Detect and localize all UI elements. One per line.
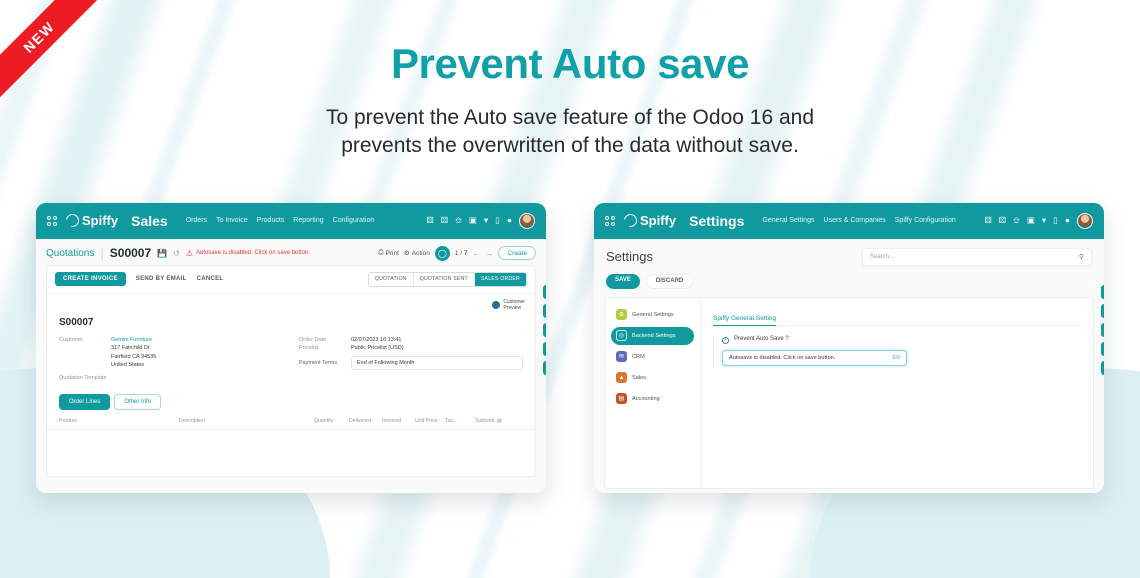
payment-terms-row: Payment Terms End of Following Month [299,356,523,370]
sales-window: Spiffy Sales Orders To Invoice Products … [36,203,546,493]
pager-next-icon[interactable]: → [485,249,493,258]
form-right-column: Order Date 02/07/2023 16:13:41 Pricelist… [299,337,523,384]
sales-navbar: Spiffy Sales Orders To Invoice Products … [36,203,546,239]
page-title: Prevent Auto save [0,40,1140,88]
avatar[interactable] [1077,213,1093,229]
col-delivered: Delivered [349,418,382,424]
settings-menu-bar: General Settings Users & Companies Spiff… [762,217,955,224]
brand-name: Spiffy [640,213,676,228]
customer-preview-button[interactable]: Customer Preview [492,299,525,311]
sidebar-item-accounting[interactable]: ▤ Accounting [611,390,694,408]
subtitle-line-2: prevents the overwritten of the data wit… [0,132,1140,160]
apps-menu-icon[interactable] [47,216,57,226]
apps-menu-icon[interactable] [605,216,615,226]
messages-icon[interactable]: ⚄ [984,216,991,225]
menu-configuration[interactable]: Configuration [333,217,375,224]
order-lines-table-header: Product Description Quantity Delivered I… [47,410,535,430]
menu-general-settings[interactable]: General Settings [762,217,814,224]
autosave-message-input[interactable]: Autosave is disabled. Click on save butt… [722,350,907,366]
location-icon[interactable]: ● [1065,216,1070,225]
order-date-row: Order Date 02/07/2023 16:13:41 [299,337,523,343]
search-input[interactable]: Search... ⚲ [862,248,1092,266]
breadcrumb[interactable]: Quotations [46,248,94,259]
sales-side-toolbar: ☆ ⚲ ╱ ⚲ ▢ [543,285,546,375]
sales-menu-bar: Orders To Invoice Products Reporting Con… [186,217,375,224]
globe-icon [492,301,500,309]
sidebar-item-label: Accounting [632,396,660,402]
col-tax: Tax... [445,418,475,424]
sidebar-item-label: Sales [632,375,646,381]
autosave-warning: ⚠ Autosave is disabled. Click on save bu… [186,249,310,258]
search-icon[interactable]: ⚲ [543,304,546,318]
address-line-1: 317 Fairchild Dr [59,345,283,351]
sidebar-item-general-settings[interactable]: ⚙ General Settings [611,306,694,324]
address-line-3: United States [59,362,283,368]
address-line-2: Fairfield CA 94535 [59,354,283,360]
action-button[interactable]: ⚙Action [404,249,430,257]
brand-logo[interactable]: Spiffy [66,213,118,228]
cancel-button[interactable]: CANCEL [197,276,224,282]
print-icon[interactable]: ⎒ [455,216,462,225]
discard-undo-icon[interactable]: ↺ [173,249,180,258]
status-pipeline: QUOTATION QUOTATION SENT SALES ORDER [368,272,527,287]
activities-icon[interactable]: ⚄ [999,216,1006,225]
sidebar-item-label: Backend Settings [632,333,676,339]
edit-pencil-icon[interactable]: ╱ [543,323,546,337]
autosave-message-value: Autosave is disabled. Click on save butt… [729,355,835,361]
spiffy-swirl-icon [63,212,81,230]
brand-logo[interactable]: Spiffy [624,213,676,228]
print-label: Print [386,250,399,257]
create-invoice-button[interactable]: CREATE INVOICE [55,272,126,286]
gallery-icon[interactable]: ▣ [469,216,477,225]
sidebar-item-crm[interactable]: ✉ CRM [611,348,694,366]
menu-to-invoice[interactable]: To Invoice [216,217,248,224]
stage-sales-order[interactable]: SALES ORDER [475,273,526,286]
new-ribbon: NEW [0,0,120,120]
bookmark-icon[interactable]: ▢ [1101,361,1104,375]
sales-icon: ▲ [616,372,627,383]
sidebar-item-backend-settings[interactable]: ◎ Backend Settings [611,327,694,345]
hero-section: Prevent Auto save To prevent the Auto sa… [0,0,1140,161]
col-unit-price: Unit Price [415,418,445,424]
prevent-auto-save-label: Prevent Auto Save ? [734,336,789,342]
payment-terms-input[interactable]: End of Following Month [351,356,523,370]
quotation-sheet: CREATE INVOICE SEND BY EMAIL CANCEL QUOT… [46,265,536,477]
menu-reporting[interactable]: Reporting [293,217,323,224]
autosave-warning-text: Autosave is disabled. Click on save butt… [196,250,310,256]
prevent-auto-save-checkbox[interactable]: ✓ [722,337,729,344]
address-country: United States [111,362,144,368]
sidebar-item-label: CRM [632,354,645,360]
note-icon[interactable]: ▯ [1053,216,1058,225]
screenshots-row: Spiffy Sales Orders To Invoice Products … [0,203,1140,493]
smart-buttons-row: Customer Preview [47,294,535,311]
menu-spiffy-configuration[interactable]: Spiffy Configuration [895,217,956,224]
breadcrumb-separator: | [100,246,103,261]
warning-triangle-icon: ⚠ [186,249,193,258]
col-invoiced: Invoiced [382,418,415,424]
settings-navbar-icons: ⚄ ⚄ ⎒ ▣ ▾ ▯ ● [984,213,1093,229]
brand-name: Spiffy [82,213,118,228]
page-subtitle: To prevent the Auto save feature of the … [0,104,1140,161]
messages-icon[interactable]: ⚄ [426,216,433,225]
column-settings-icon[interactable]: ▤ [497,418,502,424]
customer-preview-label: Customer Preview [503,299,525,311]
app-name: Settings [689,213,744,229]
record-title: S00007 [59,317,523,328]
save-disk-icon[interactable]: 💾 [157,249,167,258]
gallery-icon[interactable]: ▣ [1027,216,1035,225]
language-badge[interactable]: EN [893,355,901,361]
gear-icon: ⚙ [616,309,627,320]
send-by-email-button[interactable]: SEND BY EMAIL [136,276,187,282]
discard-button[interactable]: DISCARD [646,274,693,289]
quotation-form: S00007 Customer Gemini Furniture 317 Fai… [47,311,535,384]
print-icon[interactable]: ⎒ [1013,216,1020,225]
settings-body: ⚙ General Settings ◎ Backend Settings ✉ … [604,297,1094,489]
settings-actions: SAVE DISCARD [594,266,1104,289]
menu-orders[interactable]: Orders [186,217,207,224]
search-placeholder: Search... [870,254,894,260]
payment-terms-label: Payment Terms [299,360,351,366]
save-button[interactable]: SAVE [606,274,640,289]
address-street: 317 Fairchild Dr [111,345,150,351]
stage-quotation-sent[interactable]: QUOTATION SENT [414,273,475,286]
zoom-icon[interactable]: ⚲ [1101,342,1104,356]
settings-sidebar: ⚙ General Settings ◎ Backend Settings ✉ … [605,298,701,488]
quotation-tabs: Order Lines Other Info [47,384,535,410]
quotation-template-row: Quotation Template [59,375,283,381]
print-button[interactable]: ⎙Print [378,249,399,257]
star-icon[interactable]: ☆ [543,285,546,299]
create-button[interactable]: Create [498,246,536,260]
filter-icon[interactable]: ▾ [484,216,488,225]
search-icon[interactable]: ⚲ [1101,304,1104,318]
spiffy-swirl-icon [621,212,639,230]
settings-main-pane: Spiffy General Setting ✓ Prevent Auto Sa… [701,298,1093,488]
col-subtotal: Subtotal [475,418,494,424]
note-icon[interactable]: ▯ [495,216,500,225]
zoom-icon[interactable]: ⚲ [543,342,546,356]
star-icon[interactable]: ☆ [1101,285,1104,299]
section-title: Spiffy General Setting [713,315,776,326]
quotation-status-row: CREATE INVOICE SEND BY EMAIL CANCEL QUOT… [47,266,535,294]
order-date-label: Order Date [299,337,351,343]
sales-navbar-icons: ⚄ ⚄ ⎒ ▣ ▾ ▯ ● [426,213,535,229]
col-description: Description [179,418,314,424]
record-name: S00007 [110,246,151,260]
pricelist-value[interactable]: Public Pricelist (USD) [351,345,404,351]
tab-other-info[interactable]: Other Info [114,394,161,410]
sales-control-bar: Quotations | S00007 💾 ↺ ⚠ Autosave is di… [36,239,546,265]
pricelist-row: Pricelist Public Pricelist (USD) [299,345,523,351]
form-left-column: Customer Gemini Furniture 317 Fairchild … [59,337,283,384]
pricelist-label: Pricelist [299,345,351,351]
edit-pencil-icon[interactable]: ╱ [1101,323,1104,337]
address-city: Fairfield CA 94535 [111,354,156,360]
setting-group-bar [713,336,714,366]
settings-page-title: Settings [606,249,653,264]
activities-icon[interactable]: ⚄ [441,216,448,225]
menu-products[interactable]: Products [257,217,285,224]
pager: 1 / 7 [455,250,468,257]
crm-icon: ✉ [616,351,627,362]
quotation-template-label: Quotation Template [59,375,107,381]
location-icon[interactable]: ● [507,216,512,225]
settings-header: Settings Search... ⚲ [594,239,1104,266]
form-columns: Customer Gemini Furniture 317 Fairchild … [59,337,523,384]
settings-window: Spiffy Settings General Settings Users &… [594,203,1104,493]
customer-value[interactable]: Gemini Furniture [111,337,152,343]
prevent-auto-save-setting: ✓ Prevent Auto Save ? Autosave is disabl… [713,336,1081,366]
col-product: Product [59,418,179,424]
search-icon[interactable]: ⚲ [1079,253,1084,261]
col-quantity: Quantity [314,418,349,424]
filter-icon[interactable]: ▾ [1042,216,1046,225]
customer-label: Customer [59,337,111,343]
stage-quotation[interactable]: QUOTATION [369,273,414,286]
customer-preview-line2: Preview [503,305,521,311]
customer-row: Customer Gemini Furniture [59,337,283,343]
settings-navbar: Spiffy Settings General Settings Users &… [594,203,1104,239]
control-bar-right: ⎙Print ⚙Action ◯ 1 / 7 ← → Create [378,246,536,261]
order-date-value[interactable]: 02/07/2023 16:13:41 [351,337,401,343]
bookmark-icon[interactable]: ▢ [543,361,546,375]
subtitle-line-1: To prevent the Auto save feature of the … [0,104,1140,132]
save-record-button[interactable]: ◯ [435,246,450,261]
pager-previous-icon[interactable]: ← [472,249,480,258]
settings-side-toolbar: ☆ ⚲ ╱ ⚲ ▢ [1101,285,1104,375]
backend-swirl-icon: ◎ [616,330,627,341]
sidebar-item-label: General Settings [632,312,674,318]
new-ribbon-label: NEW [0,0,110,108]
tab-order-lines[interactable]: Order Lines [59,394,110,410]
action-label: Action [412,250,430,257]
app-name: Sales [131,213,168,229]
sidebar-item-sales[interactable]: ▲ Sales [611,369,694,387]
accounting-icon: ▤ [616,393,627,404]
menu-users-companies[interactable]: Users & Companies [824,217,886,224]
avatar[interactable] [519,213,535,229]
